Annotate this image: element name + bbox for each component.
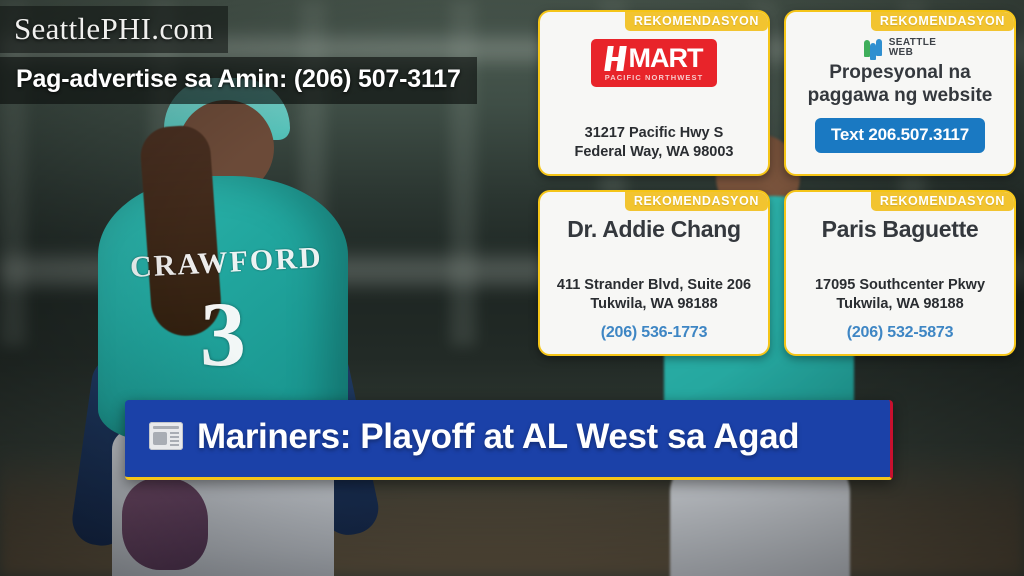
rekomendasyon-badge: REKOMENDASYON — [871, 191, 1014, 211]
card-tagline: Propesyonal na paggawa ng website — [808, 62, 993, 108]
headline-banner[interactable]: Mariners: Playoff at AL West sa Agad — [125, 400, 893, 480]
hmart-h-glyph — [606, 46, 626, 71]
headline-text: Mariners: Playoff at AL West sa Agad — [197, 416, 799, 459]
recommendation-card-addie-chang[interactable]: REKOMENDASYON Dr. Addie Chang 411 Strand… — [538, 190, 770, 356]
rekomendasyon-badge: REKOMENDASYON — [625, 191, 768, 211]
card-address: 31217 Pacific Hwy S Federal Way, WA 9800… — [574, 124, 733, 162]
rekomendasyon-badge: REKOMENDASYON — [625, 11, 768, 31]
hmart-main-text: MART — [629, 45, 703, 72]
seattleweb-wordmark: SEATTLE WEB — [889, 38, 937, 58]
badge-row: REKOMENDASYON — [550, 12, 758, 31]
badge-row: REKOMENDASYON — [550, 192, 758, 211]
hmart-wordmark: MART — [606, 45, 703, 72]
recommendation-card-seattleweb[interactable]: REKOMENDASYON SEATTLE WEB Propesyonal na… — [784, 10, 1016, 176]
recommendation-card-hmart[interactable]: REKOMENDASYON MART PACIFIC NORTHWEST 312… — [538, 10, 770, 176]
badge-row: REKOMENDASYON — [796, 12, 1004, 31]
seattleweb-mark-icon — [864, 39, 884, 57]
card-address: 17095 Southcenter Pkwy Tukwila, WA 98188 — [815, 276, 985, 314]
hmart-sub-text: PACIFIC NORTHWEST — [605, 74, 704, 82]
tagline-line-1: Propesyonal na — [808, 62, 993, 85]
tagline-line-2: paggawa ng website — [808, 85, 993, 108]
hmart-logo: MART PACIFIC NORTHWEST — [591, 39, 718, 87]
seattleweb-line-2: WEB — [889, 48, 937, 58]
brand-block: SeattlePHI.com Pag-advertise sa Amin: (2… — [0, 6, 477, 104]
address-line-1: 411 Strander Blvd, Suite 206 — [557, 276, 751, 295]
badge-row: REKOMENDASYON — [796, 192, 1004, 211]
newspaper-icon — [149, 422, 183, 450]
advertise-banner[interactable]: Pag-advertise sa Amin: (206) 507-3117 — [0, 57, 477, 104]
card-phone-link[interactable]: (206) 536-1773 — [601, 324, 708, 342]
address-line-2: Tukwila, WA 98188 — [815, 295, 985, 314]
site-logo[interactable]: SeattlePHI.com — [0, 6, 228, 53]
recommendation-card-grid: REKOMENDASYON MART PACIFIC NORTHWEST 312… — [538, 10, 1016, 356]
address-line-2: Tukwila, WA 98188 — [557, 295, 751, 314]
card-title: Paris Baguette — [822, 217, 979, 243]
address-line-1: 31217 Pacific Hwy S — [574, 124, 733, 143]
recommendation-card-paris-baguette[interactable]: REKOMENDASYON Paris Baguette 17095 South… — [784, 190, 1016, 356]
card-address: 411 Strander Blvd, Suite 206 Tukwila, WA… — [557, 276, 751, 314]
screenshot-stage: CRAWFORD 3 SeattlePHI.com Pag-advertise … — [0, 0, 1024, 576]
card-phone-link[interactable]: (206) 532-5873 — [847, 324, 954, 342]
address-line-2: Federal Way, WA 98003 — [574, 143, 733, 162]
address-line-1: 17095 Southcenter Pkwy — [815, 276, 985, 295]
rekomendasyon-badge: REKOMENDASYON — [871, 11, 1014, 31]
seattleweb-logo: SEATTLE WEB — [864, 38, 937, 58]
card-title: Dr. Addie Chang — [567, 217, 741, 243]
text-cta-button[interactable]: Text 206.507.3117 — [815, 118, 985, 153]
